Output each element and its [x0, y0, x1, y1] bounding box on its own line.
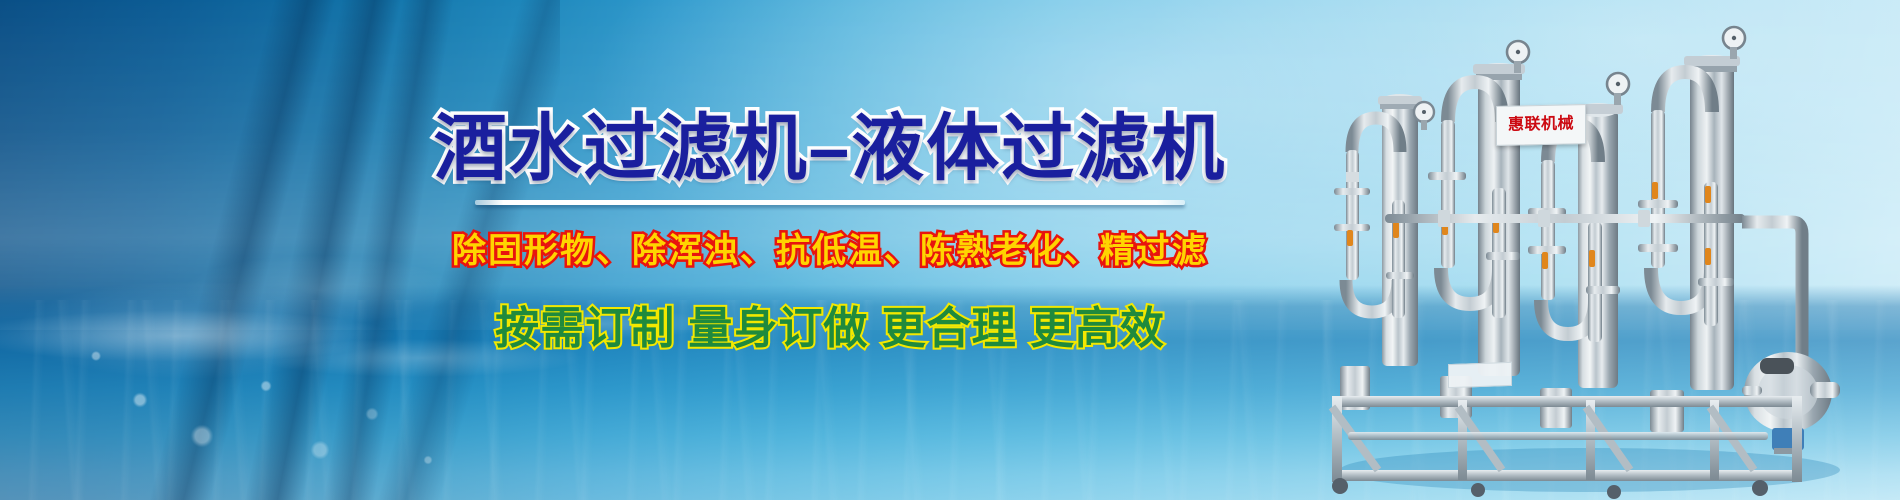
filtration-machine-image — [1290, 0, 1900, 500]
brand-plate: 惠联机械 — [1496, 104, 1586, 146]
banner-features-line: 除固形物、除浑浊、抗低温、陈熟老化、精过滤 — [330, 223, 1330, 272]
title-divider — [475, 200, 1185, 205]
filter-vessel-4 — [1638, 27, 1745, 432]
banner-tagline: 按需订制 量身订做 更合理 更高效 — [330, 292, 1330, 356]
outlet-pipe — [1742, 222, 1802, 364]
brand-plate-label: 惠联机械 — [1508, 116, 1574, 133]
banner-text-block: 酒水过滤机–液体过滤机 除固形物、除浑浊、抗低温、陈熟老化、精过滤 按需订制 量… — [330, 112, 1330, 356]
filter-vessel-1 — [1334, 94, 1434, 410]
machine-spec-plate — [1448, 362, 1512, 388]
banner-title: 酒水过滤机–液体过滤机 — [330, 112, 1330, 186]
product-banner: 酒水过滤机–液体过滤机 除固形物、除浑浊、抗低温、陈熟老化、精过滤 按需订制 量… — [0, 0, 1900, 500]
filter-vessel-2 — [1428, 41, 1529, 418]
